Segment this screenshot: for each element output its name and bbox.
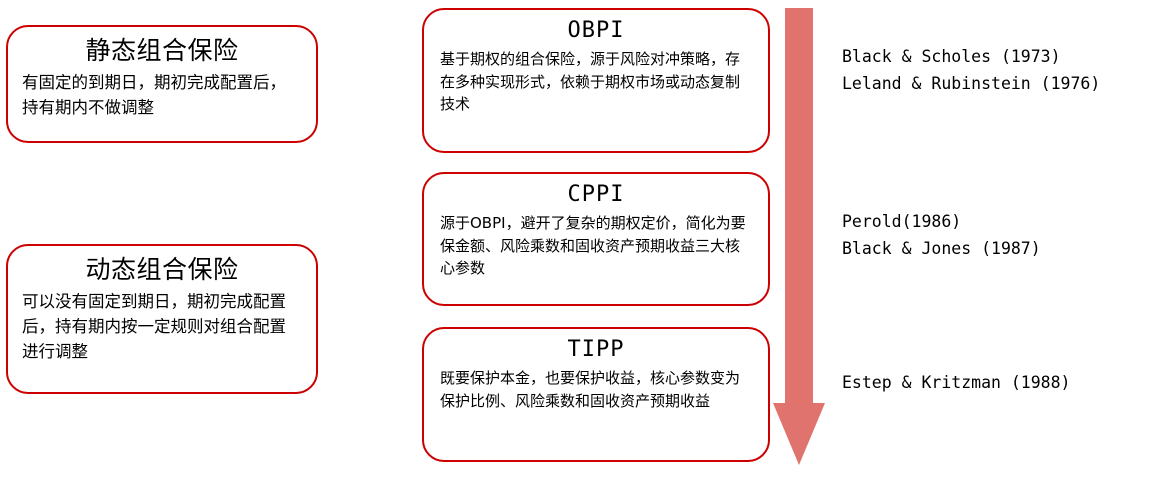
card-body-cppi: 源于OBPI，避开了复杂的期权定价，简化为要保金额、风险乘数和固收资产预期收益三… — [440, 212, 752, 280]
card-body-dynamic: 可以没有固定到期日，期初完成配置后，持有期内按一定规则对组合配置进行调整 — [22, 290, 302, 364]
portfolio-insurance-diagram: 静态组合保险 有固定的到期日，期初完成配置后，持有期内不做调整 动态组合保险 可… — [0, 0, 1155, 477]
card-title-cppi: CPPI — [424, 183, 768, 206]
timeline-arrow-down-icon — [770, 8, 828, 470]
card-tipp: TIPP 既要保护本金，也要保护收益，核心参数变为保护比例、风险乘数和固收资产预… — [422, 327, 770, 462]
card-title-obpi: OBPI — [424, 19, 768, 42]
card-cppi: CPPI 源于OBPI，避开了复杂的期权定价，简化为要保金额、风险乘数和固收资产… — [422, 172, 770, 306]
card-body-obpi: 基于期权的组合保险，源于风险对冲策略，存在多种实现形式，依赖于期权市场或动态复制… — [440, 48, 752, 116]
citation-cppi: Perold(1986) Black & Jones (1987) — [842, 209, 1041, 262]
citation-obpi: Black & Scholes (1973) Leland & Rubinste… — [842, 44, 1100, 97]
card-title-dynamic: 动态组合保险 — [8, 257, 316, 283]
citation-tipp: Estep & Kritzman (1988) — [842, 370, 1070, 397]
card-body-static: 有固定的到期日，期初完成配置后，持有期内不做调整 — [22, 71, 302, 121]
card-title-tipp: TIPP — [424, 338, 768, 361]
card-dynamic-portfolio-insurance: 动态组合保险 可以没有固定到期日，期初完成配置后，持有期内按一定规则对组合配置进… — [6, 244, 318, 394]
card-body-tipp: 既要保护本金，也要保护收益，核心参数变为保护比例、风险乘数和固收资产预期收益 — [440, 367, 752, 412]
card-static-portfolio-insurance: 静态组合保险 有固定的到期日，期初完成配置后，持有期内不做调整 — [6, 25, 318, 143]
card-obpi: OBPI 基于期权的组合保险，源于风险对冲策略，存在多种实现形式，依赖于期权市场… — [422, 8, 770, 153]
card-title-static: 静态组合保险 — [8, 38, 316, 64]
